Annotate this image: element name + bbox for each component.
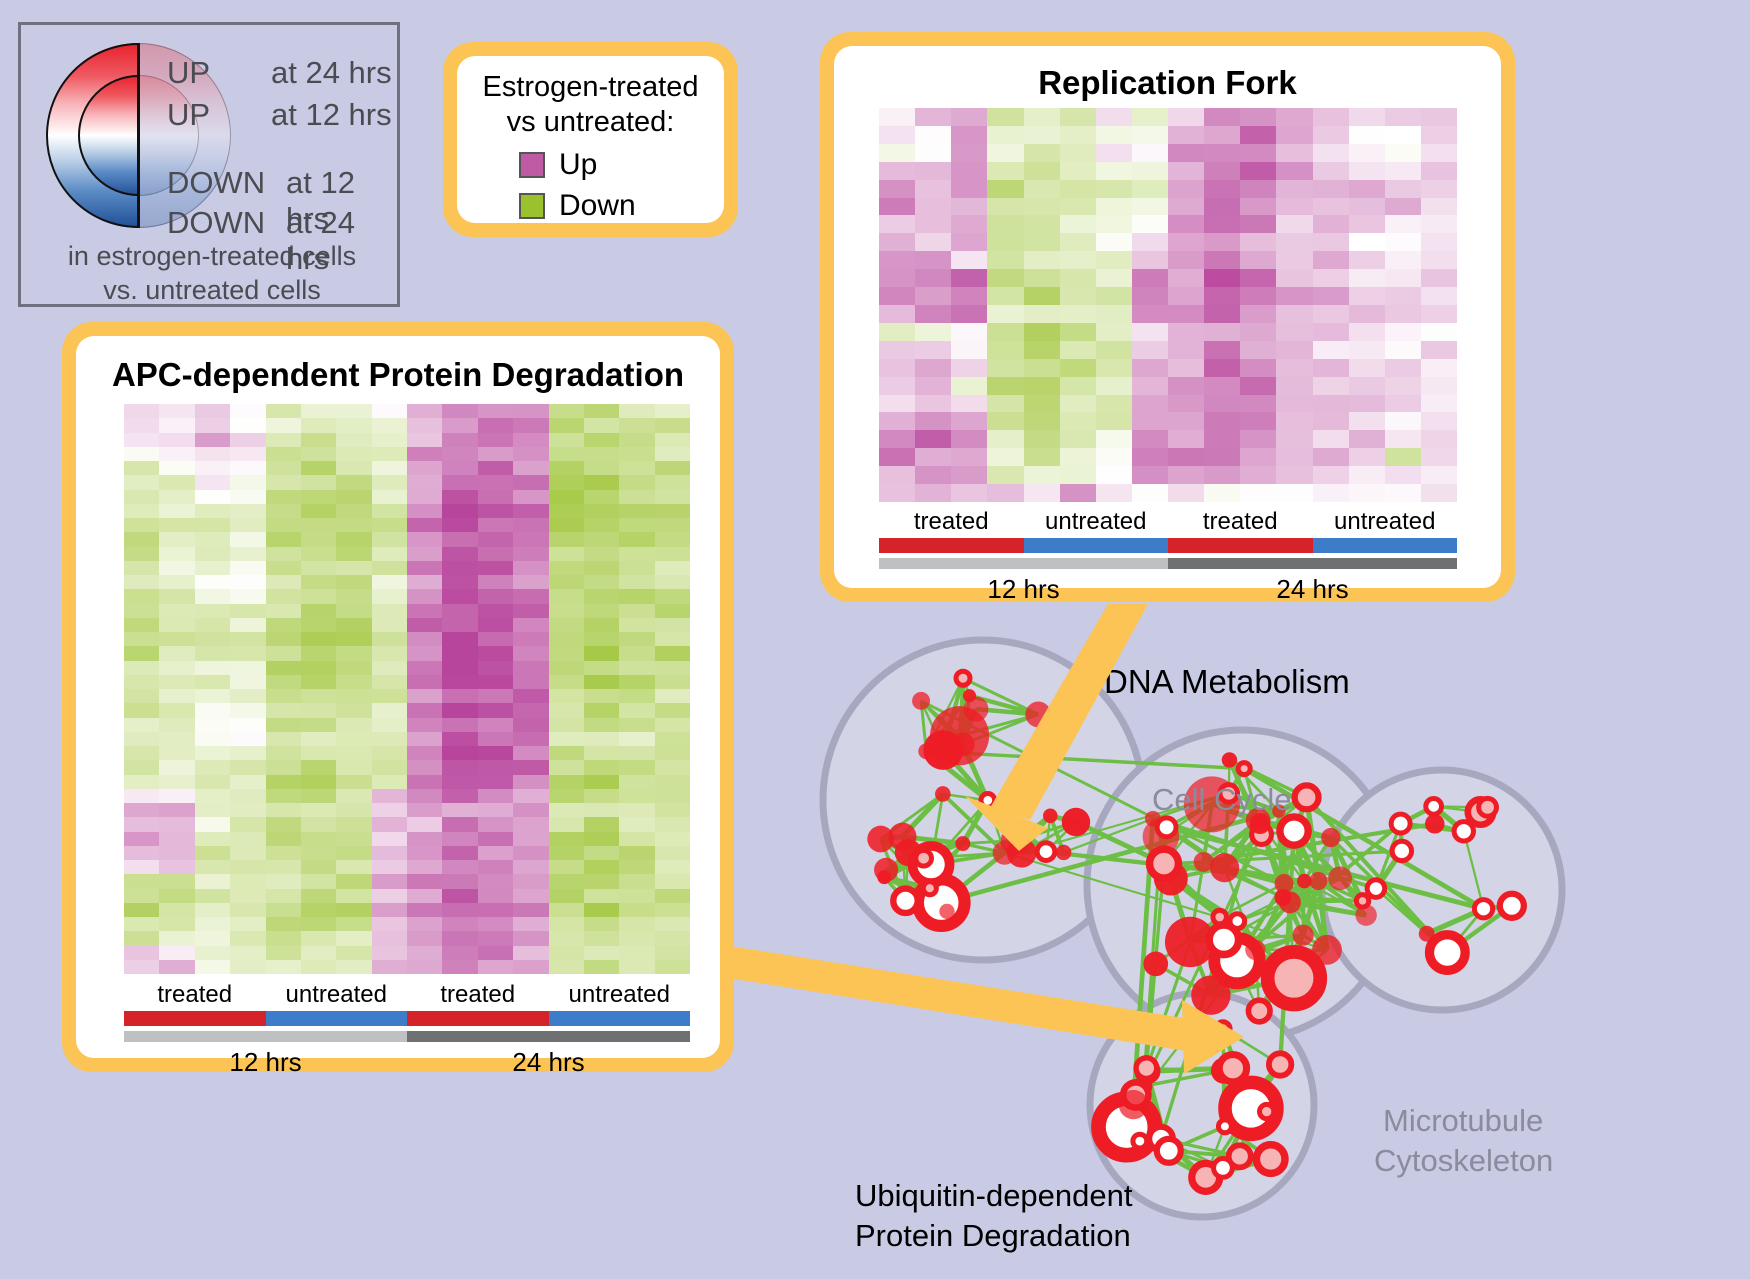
network-node[interactable] [912,692,930,710]
heatmap-cell [442,646,477,660]
heatmap-cell [1385,108,1421,126]
network-node[interactable] [1328,866,1352,890]
network-node[interactable] [1062,808,1090,836]
heatmap-cell [230,661,265,675]
heatmap-cell [407,917,442,931]
heatmap-cell [301,675,336,689]
heatmap-cell [372,532,407,546]
network-node[interactable] [1268,952,1321,1005]
condition-label: treated [124,981,266,1009]
heatmap-cell [1060,430,1096,448]
heatmap-cell [1204,323,1240,341]
network-node[interactable] [867,826,894,853]
heatmap-cell [584,575,619,589]
heatmap-cell [230,689,265,703]
heatmap-cell [1421,126,1457,144]
heatmap-cell [266,789,301,803]
heatmap-cell [407,817,442,831]
heatmap-cell [124,675,159,689]
heatmap-cell [159,860,194,874]
heatmap-cell [1204,144,1240,162]
network-node[interactable] [1391,814,1410,833]
heatmap-cell [407,846,442,860]
heatmap-cell [584,689,619,703]
heatmap-cell [266,589,301,603]
heatmap-cell [584,518,619,532]
heatmap-cell [407,461,442,475]
heatmap-cell [407,860,442,874]
heatmap-cell [230,433,265,447]
apc-time-labels: 12 hrs24 hrs [124,1047,690,1078]
heatmap-cell [915,430,951,448]
heatmap-cell [655,846,690,860]
heatmap-cell [159,689,194,703]
heatmap-cell [1024,144,1060,162]
heatmap-cell [879,430,915,448]
heatmap-cell [1385,215,1421,233]
network-node[interactable] [1210,853,1239,882]
network-node[interactable] [1474,900,1492,918]
network-node[interactable] [963,697,988,722]
heatmap-cell [619,461,654,475]
heatmap-cell [549,803,584,817]
heatmap-cell [879,144,915,162]
heatmap-cell [619,718,654,732]
heatmap-cell [266,903,301,917]
heatmap-cell [1024,108,1060,126]
network-node[interactable] [1157,1139,1181,1163]
heatmap-cell [407,504,442,518]
heatmap-cell [1168,323,1204,341]
heatmap-cell [549,746,584,760]
legend-label-down: Down [559,189,636,223]
heatmap-cell [584,917,619,931]
heatmap-cell [1349,180,1385,198]
network-node[interactable] [1367,880,1385,898]
heatmap-cell [372,547,407,561]
apc-degradation-inner: APC-dependent Protein Degradation treate… [76,336,720,1058]
heatmap-cell [1024,448,1060,466]
heatmap-cell [1240,233,1276,251]
network-node[interactable] [1150,849,1179,878]
heatmap-cell [124,661,159,675]
heatmap-cell [159,661,194,675]
network-node[interactable] [1260,1104,1274,1118]
heatmap-cell [584,903,619,917]
heatmap-cell [336,518,371,532]
heatmap-cell [372,675,407,689]
heatmap-cell [336,575,371,589]
heatmap-cell [442,589,477,603]
network-node[interactable] [874,858,898,882]
heatmap-cell [915,198,951,216]
heatmap-cell [230,760,265,774]
heatmap-cell [513,732,548,746]
heatmap-cell [1385,395,1421,413]
color-wheel-legend: UP at 24 hrs UP at 12 hrs DOWN at 12 hrs… [18,22,400,307]
heatmap-cell [584,746,619,760]
heatmap-cell [951,126,987,144]
heatmap-cell [442,732,477,746]
heatmap-cell [1060,412,1096,430]
heatmap-cell [301,917,336,931]
network-node[interactable] [1312,935,1342,965]
heatmap-cell [1276,287,1312,305]
heatmap-cell [951,377,987,395]
heatmap-cell [1168,395,1204,413]
network-node[interactable] [1218,1120,1231,1133]
heatmap-cell [513,661,548,675]
heatmap-cell [124,903,159,917]
heatmap-cell [336,547,371,561]
heatmap-cell [1421,251,1457,269]
heatmap-cell [1060,448,1096,466]
heatmap-cell [549,832,584,846]
heatmap-cell [1276,251,1312,269]
heatmap-cell [513,675,548,689]
heatmap-cell [478,789,513,803]
heatmap-cell [513,903,548,917]
heatmap-cell [1204,305,1240,323]
heatmap-cell [1060,180,1096,198]
heatmap-cell [513,504,548,518]
heatmap-cell [1204,108,1240,126]
heatmap-cell [195,532,230,546]
heatmap-cell [584,604,619,618]
heatmap-cell [987,144,1023,162]
heatmap-cell [584,817,619,831]
heatmap-cell [951,108,987,126]
network-node[interactable] [1136,1058,1157,1079]
network-node[interactable] [1321,828,1340,847]
network-node[interactable] [1056,845,1071,860]
heatmap-cell [1349,269,1385,287]
heatmap-cell [1349,162,1385,180]
heatmap-cell [159,589,194,603]
heatmap-cell [879,359,915,377]
heatmap-cell [1240,215,1276,233]
heatmap-cell [159,418,194,432]
heatmap-cell [407,404,442,418]
rf-time-bar [879,558,1457,569]
condition-color-bar [1168,538,1313,553]
heatmap-cell [159,433,194,447]
network-node[interactable] [1454,822,1473,841]
heatmap-cell [513,518,548,532]
heatmap-cell [1204,126,1240,144]
network-node[interactable] [1479,798,1497,816]
heatmap-cell [266,675,301,689]
heatmap-cell [159,718,194,732]
heatmap-cell [195,889,230,903]
network-node[interactable] [1256,1145,1285,1174]
heatmap-cell [915,377,951,395]
heatmap-cell [987,412,1023,430]
network-node[interactable] [955,836,970,851]
heatmap-cell [513,775,548,789]
heatmap-cell [195,604,230,618]
heatmap-cell [1024,251,1060,269]
network-node[interactable] [1214,1159,1233,1178]
network-node[interactable] [1238,763,1250,775]
heatmap-cell [619,703,654,717]
heatmap-cell [1060,198,1096,216]
heatmap-cell [159,575,194,589]
network-label-ubiquitin-line1: Ubiquitin-dependent [855,1178,1133,1214]
heatmap-cell [442,447,477,461]
heatmap-cell [1132,359,1168,377]
heatmap-cell [1168,359,1204,377]
heatmap-cell [301,604,336,618]
heatmap-cell [1349,377,1385,395]
heatmap-cell [584,775,619,789]
heatmap-cell [1132,466,1168,484]
heatmap-cell [987,305,1023,323]
heatmap-cell [407,703,442,717]
heatmap-cell [159,447,194,461]
heatmap-cell [1024,359,1060,377]
heatmap-cell [372,661,407,675]
heatmap-cell [336,889,371,903]
network-node[interactable] [1119,1090,1148,1119]
network-node[interactable] [1219,1055,1246,1082]
heatmap-cell [619,675,654,689]
heatmap-cell [655,490,690,504]
network-node[interactable] [1295,785,1319,809]
timepoint-color-bar [407,1031,690,1042]
heatmap-cell [336,561,371,575]
heatmap-cell [584,789,619,803]
heatmap-cell [1132,198,1168,216]
network-node[interactable] [981,793,995,807]
heatmap-cell [584,846,619,860]
heatmap-cell [124,874,159,888]
heatmap-cell [1313,180,1349,198]
heatmap-cell [1240,198,1276,216]
heatmap-cell [1132,341,1168,359]
heatmap-cell [195,931,230,945]
heatmap-cell [336,903,371,917]
heatmap-cell [1132,323,1168,341]
heatmap-cell [301,703,336,717]
heatmap-cell [1168,198,1204,216]
network-node[interactable] [1222,752,1237,767]
network-node[interactable] [1279,891,1301,913]
heatmap-cell [1096,377,1132,395]
network-node[interactable] [1133,1134,1147,1148]
heatmap-cell [1385,359,1421,377]
heatmap-cell [1276,215,1312,233]
heatmap-cell [407,475,442,489]
network-node[interactable] [1309,872,1327,890]
heatmap-cell [478,433,513,447]
heatmap-cell [195,846,230,860]
heatmap-cell [1168,144,1204,162]
heatmap-cell [987,484,1023,502]
heatmap-cell [549,718,584,732]
network-node[interactable] [1419,926,1435,942]
heatmap-cell [266,575,301,589]
heatmap-cell [301,561,336,575]
heatmap-cell [951,341,987,359]
heatmap-cell [159,703,194,717]
heatmap-cell [1024,323,1060,341]
network-node[interactable] [1500,894,1524,918]
network-node[interactable] [939,904,954,919]
heatmap-cell [1024,430,1060,448]
heatmap-cell [1349,126,1385,144]
heatmap-cell [195,903,230,917]
heatmap-cell [549,604,584,618]
network-node[interactable] [956,671,970,685]
network-node[interactable] [1280,817,1308,845]
heatmap-cell [407,775,442,789]
heatmap-cell [1349,108,1385,126]
heatmap-cell [549,931,584,945]
heatmap-cell [1276,198,1312,216]
network-node[interactable] [1043,809,1058,824]
heatmap-cell [1132,126,1168,144]
heatmap-cell [336,532,371,546]
heatmap-cell [301,803,336,817]
heatmap-cell [1421,323,1457,341]
network-node[interactable] [1143,952,1168,977]
network-node[interactable] [1007,838,1037,868]
network-node[interactable] [923,882,936,895]
heatmap-cell [655,760,690,774]
heatmap-cell [195,561,230,575]
heatmap-cell [195,689,230,703]
heatmap-cell [266,604,301,618]
heatmap-cell [1313,198,1349,216]
heatmap-cell [513,931,548,945]
heatmap-cell [951,430,987,448]
heatmap-cell [1421,448,1457,466]
heatmap-cell [513,960,548,974]
network-node[interactable] [1230,914,1245,929]
network-node[interactable] [1430,935,1466,971]
heatmap-cell [655,946,690,960]
heatmap-cell [230,718,265,732]
network-node[interactable] [1356,895,1368,907]
heatmap-cell [584,532,619,546]
heatmap-cell [513,561,548,575]
heatmap-cell [584,860,619,874]
heatmap-cell [230,532,265,546]
heatmap-cell [1421,341,1457,359]
heatmap-cell [159,475,194,489]
heatmap-cell [442,561,477,575]
heatmap-cell [513,433,548,447]
heatmap-cell [1240,162,1276,180]
heatmap-cell [1349,144,1385,162]
heatmap-cell [478,589,513,603]
heatmap-cell [655,789,690,803]
heatmap-cell [1421,359,1457,377]
condition-label: untreated [1313,508,1458,536]
heatmap-cell [1313,484,1349,502]
heatmap-cell [372,917,407,931]
heatmap-cell [478,803,513,817]
wheel-key-down-12: DOWN [167,165,265,201]
network-node[interactable] [1292,925,1313,946]
heatmap-cell [915,269,951,287]
network-node[interactable] [1157,818,1176,837]
network-node[interactable] [935,786,951,802]
heatmap-cell [619,817,654,831]
heatmap-cell [513,461,548,475]
heatmap-cell [442,490,477,504]
heatmap-cell [549,475,584,489]
heatmap-cell [124,703,159,717]
network-node[interactable] [1426,799,1442,815]
heatmap-cell [301,490,336,504]
heatmap-cell [336,874,371,888]
network-node[interactable] [893,889,917,913]
down-swatch-icon [519,193,545,219]
heatmap-cell [987,269,1023,287]
heatmap-cell [266,917,301,931]
heatmap-cell [549,632,584,646]
heatmap-cell [619,874,654,888]
network-node[interactable] [1245,940,1265,960]
heatmap-cell [372,775,407,789]
heatmap-cell [1060,484,1096,502]
heatmap-cell [442,632,477,646]
network-node[interactable] [1216,1022,1230,1036]
network-node[interactable] [1425,814,1444,833]
legend-item-down: Down [519,189,636,223]
heatmap-cell [230,504,265,518]
heatmap-cell [407,718,442,732]
heatmap-cell [1276,144,1312,162]
heatmap-cell [987,251,1023,269]
heatmap-cell [584,661,619,675]
heatmap-cell [951,395,987,413]
heatmap-cell [549,518,584,532]
network-node[interactable] [951,732,975,756]
network-node[interactable] [1248,1000,1270,1022]
up-swatch-icon [519,152,545,178]
heatmap-cell [230,575,265,589]
heatmap-cell [407,532,442,546]
network-node[interactable] [916,850,932,866]
heatmap-cell [1313,412,1349,430]
network-node[interactable] [1037,843,1055,861]
heatmap-cell [159,532,194,546]
network-node[interactable] [1275,874,1294,893]
heatmap-cell [987,180,1023,198]
network-node[interactable] [1269,1053,1291,1075]
heatmap-cell [478,604,513,618]
heatmap-cell [655,718,690,732]
heatmap-cell [915,162,951,180]
heatmap-cell [549,675,584,689]
network-node[interactable] [1025,702,1051,728]
heatmap-cell [407,746,442,760]
heatmap-cell [124,646,159,660]
heatmap-cell [478,490,513,504]
heatmap-cell [1060,466,1096,484]
heatmap-cell [266,461,301,475]
network-node[interactable] [1392,841,1411,860]
heatmap-cell [1132,215,1168,233]
heatmap-cell [1024,269,1060,287]
network-node[interactable] [918,743,934,759]
heatmap-cell [1204,341,1240,359]
heatmap-cell [1096,126,1132,144]
heatmap-cell [619,532,654,546]
